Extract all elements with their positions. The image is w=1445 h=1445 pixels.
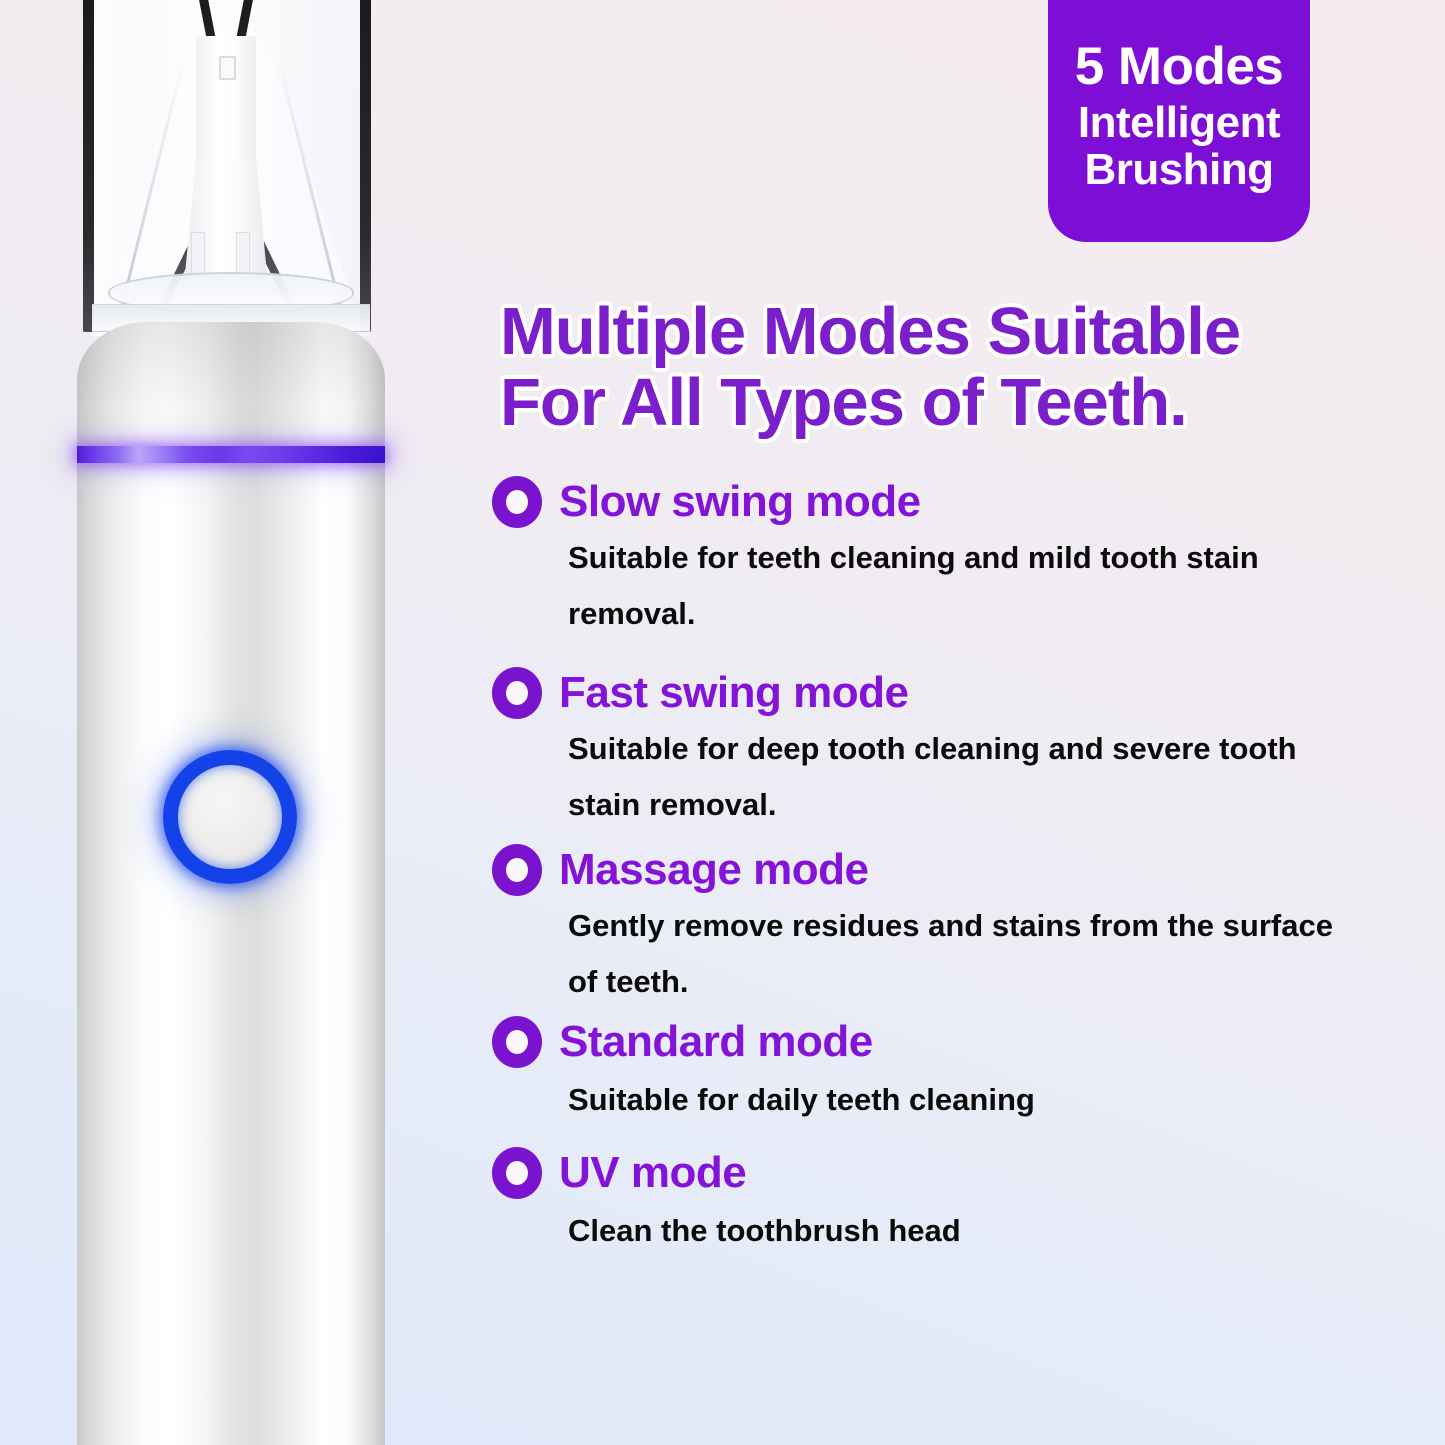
mode-title: Massage mode: [559, 848, 868, 892]
mode-item-massage: Massage mode Gently remove residues and …: [492, 844, 1392, 1011]
power-button-ring-icon[interactable]: [163, 750, 297, 884]
product-feature-poster: 5 Modes Intelligent Brushing Multiple Mo…: [0, 0, 1445, 1445]
mode-description: Gently remove residues and stains from t…: [568, 898, 1368, 1011]
uv-light-band: [77, 446, 385, 463]
mode-description: Clean the toothbrush head: [568, 1207, 1368, 1255]
mode-header: Fast swing mode: [492, 667, 1392, 719]
mode-title: UV mode: [559, 1151, 746, 1195]
modes-badge: 5 Modes Intelligent Brushing: [1048, 0, 1310, 242]
page-title: Multiple Modes Suitable For All Types of…: [500, 296, 1392, 438]
product-image: [0, 0, 470, 1445]
ring-bullet-icon: [492, 476, 542, 528]
frame-rod-left: [83, 0, 94, 332]
frame-rod-right: [360, 0, 371, 332]
mode-title: Slow swing mode: [559, 480, 921, 524]
handle-shoulder-shading: [77, 322, 385, 442]
mode-item-fast-swing: Fast swing mode Suitable for deep tooth …: [492, 667, 1392, 834]
content-column: Multiple Modes Suitable For All Types of…: [492, 296, 1392, 1269]
mode-title: Fast swing mode: [559, 671, 908, 715]
badge-title: 5 Modes: [1075, 40, 1284, 94]
headline-line-1: Multiple Modes Suitable: [500, 294, 1240, 369]
mode-description: Suitable for teeth cleaning and mild too…: [568, 530, 1368, 643]
mode-title: Standard mode: [559, 1020, 873, 1064]
ring-bullet-icon: [492, 1016, 542, 1068]
brush-head-notch: [219, 56, 236, 80]
badge-subtitle-line2: Brushing: [1084, 146, 1273, 194]
mode-description: Suitable for daily teeth cleaning: [568, 1076, 1368, 1124]
mode-item-slow-swing: Slow swing mode Suitable for teeth clean…: [492, 476, 1392, 643]
headline-line-2: For All Types of Teeth.: [500, 367, 1392, 438]
mode-header: Massage mode: [492, 844, 1392, 896]
mode-header: UV mode: [492, 1147, 1392, 1199]
mode-item-uv: UV mode Clean the toothbrush head: [492, 1147, 1392, 1255]
mode-description: Suitable for deep tooth cleaning and sev…: [568, 721, 1368, 834]
ring-bullet-icon: [492, 844, 542, 896]
ring-bullet-icon: [492, 667, 542, 719]
mode-header: Standard mode: [492, 1016, 1392, 1068]
mode-item-standard: Standard mode Suitable for daily teeth c…: [492, 1016, 1392, 1124]
badge-subtitle-line1: Intelligent: [1078, 99, 1280, 147]
mode-list: Slow swing mode Suitable for teeth clean…: [492, 476, 1392, 1255]
mode-header: Slow swing mode: [492, 476, 1392, 528]
ring-bullet-icon: [492, 1147, 542, 1199]
